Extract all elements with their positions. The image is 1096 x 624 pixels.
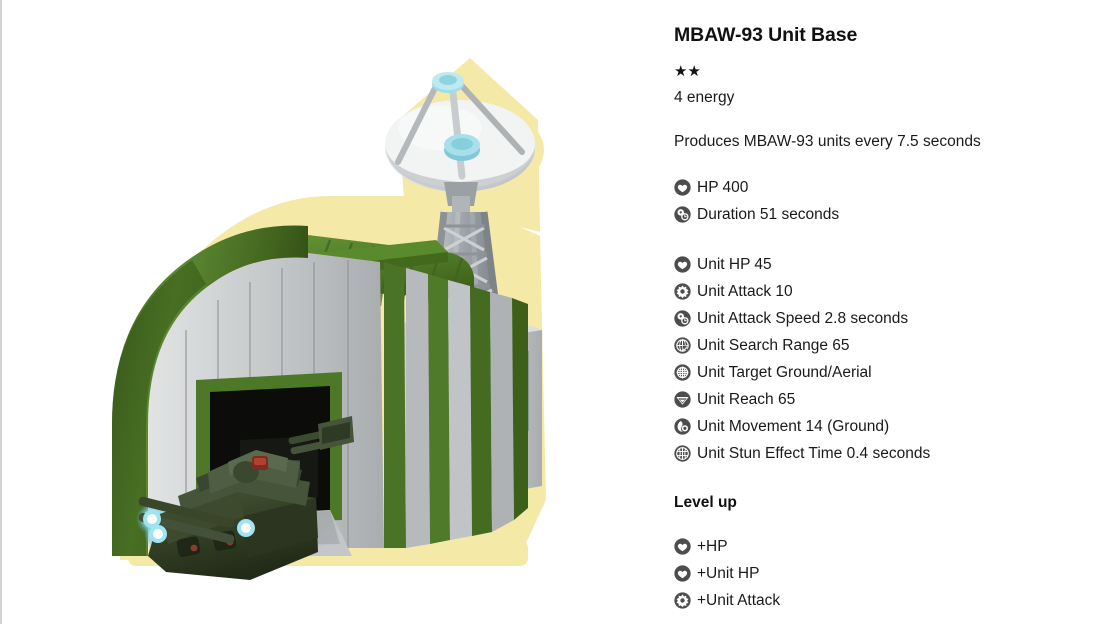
stopwatch-icon: [674, 206, 691, 223]
stat-row: Unit HP 45: [674, 251, 1076, 278]
stat-row: Unit Target Ground/Aerial: [674, 359, 1076, 386]
heart-icon: [674, 565, 691, 582]
stat-label: Unit Search Range 65: [697, 336, 850, 355]
stat-row: Unit Attack 10: [674, 278, 1076, 305]
stat-label: HP 400: [697, 178, 748, 197]
stopwatch-icon: [674, 310, 691, 327]
burst-icon: [674, 592, 691, 609]
energy-cost: 4 energy: [674, 87, 1076, 108]
info-pane: MBAW-93 Unit Base ★★ 4 energy Produces M…: [660, 0, 1096, 624]
stun-icon: [674, 445, 691, 462]
burst-icon: [674, 283, 691, 300]
level-up-label: +HP: [697, 537, 728, 556]
level-up-label: +Unit Attack: [697, 591, 780, 610]
level-up-row: +HP: [674, 533, 1076, 560]
level-up-row: +Unit Attack: [674, 587, 1076, 614]
stat-label: Unit Movement 14 (Ground): [697, 417, 889, 436]
level-up-heading: Level up: [674, 493, 1076, 513]
unit-info-page: MBAW-93 Unit Base ★★ 4 energy Produces M…: [0, 0, 1096, 624]
page-title: MBAW-93 Unit Base: [674, 23, 1076, 47]
stat-label: Unit Reach 65: [697, 390, 795, 409]
stat-label: Unit Stun Effect Time 0.4 seconds: [697, 444, 930, 463]
crosshair-globe-icon: [674, 364, 691, 381]
stat-label: Unit Attack 10: [697, 282, 793, 301]
stat-label: Duration 51 seconds: [697, 205, 839, 224]
stat-row: Unit Search Range 65: [674, 332, 1076, 359]
cone-icon: [674, 391, 691, 408]
movement-icon: [674, 418, 691, 435]
level-up-label: +Unit HP: [697, 564, 759, 583]
level-up-group: +HP +Unit HP +Unit Attack: [674, 533, 1076, 614]
artwork-pane: [0, 0, 660, 624]
stat-label: Unit Attack Speed 2.8 seconds: [697, 309, 908, 328]
heart-icon: [674, 256, 691, 273]
stat-row: HP 400: [674, 174, 1076, 201]
building-stats-group: HP 400 Duration 51 seconds: [674, 174, 1076, 228]
stat-row: Duration 51 seconds: [674, 201, 1076, 228]
star-rating: ★★: [674, 63, 1076, 81]
stat-row: Unit Reach 65: [674, 386, 1076, 413]
heart-icon: [674, 538, 691, 555]
level-up-row: +Unit HP: [674, 560, 1076, 587]
radar-icon: [674, 337, 691, 354]
stat-label: Unit Target Ground/Aerial: [697, 363, 872, 382]
stat-row: Unit Attack Speed 2.8 seconds: [674, 305, 1076, 332]
stat-label: Unit HP 45: [697, 255, 772, 274]
building-render: [0, 0, 660, 624]
stat-row: Unit Movement 14 (Ground): [674, 413, 1076, 440]
stat-row: Unit Stun Effect Time 0.4 seconds: [674, 440, 1076, 467]
heart-icon: [674, 179, 691, 196]
production-description: Produces MBAW-93 units every 7.5 seconds: [674, 131, 1076, 152]
unit-stats-group: Unit HP 45 Unit Attack 10: [674, 251, 1076, 467]
